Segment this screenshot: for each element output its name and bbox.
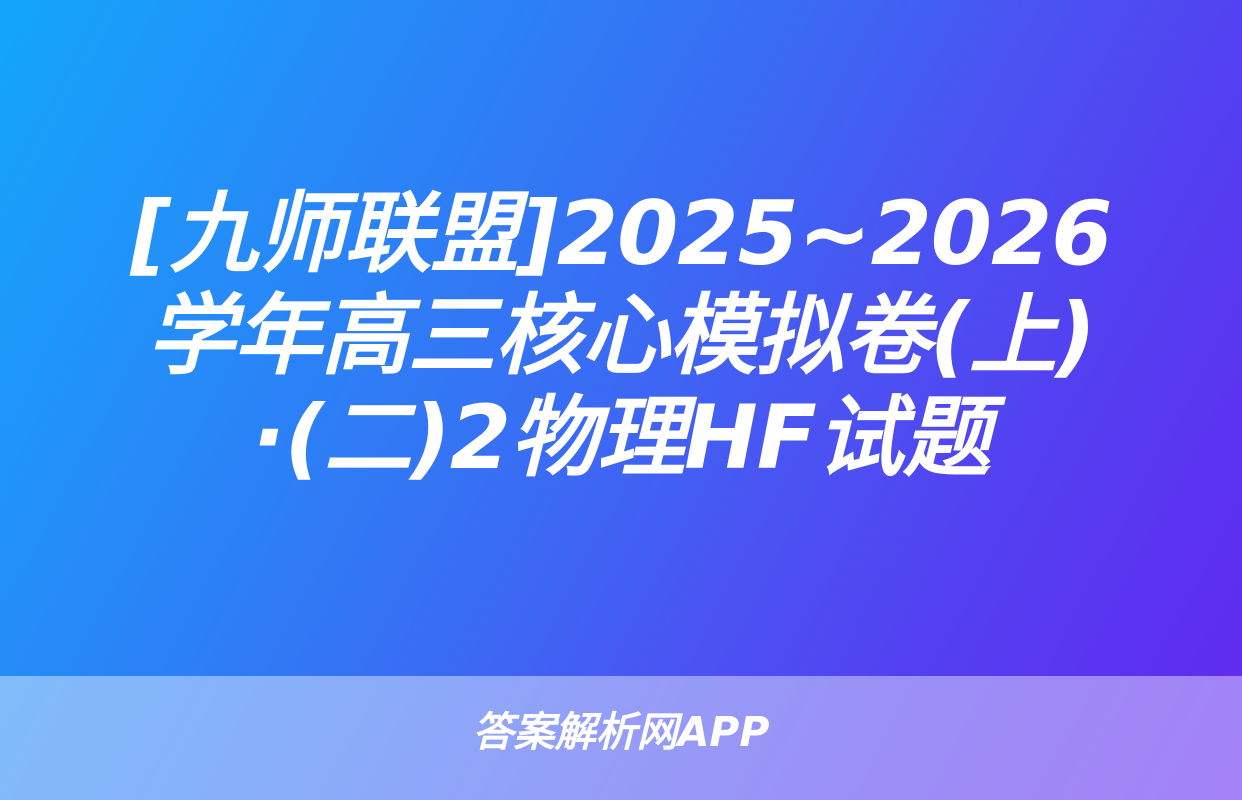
title-line-1: [九师联盟]2025~2026 [72,183,1170,285]
title-line-3: ·(二)2物理HF试题 [72,387,1170,489]
title-line-2: 学年高三核心模拟卷(上) [72,285,1170,387]
footer-app-label: 答案解析网APP [0,707,1242,757]
page-title: [九师联盟]2025~2026 学年高三核心模拟卷(上) ·(二)2物理HF试题 [0,183,1242,489]
poster-image: [九师联盟]2025~2026 学年高三核心模拟卷(上) ·(二)2物理HF试题… [0,0,1242,800]
